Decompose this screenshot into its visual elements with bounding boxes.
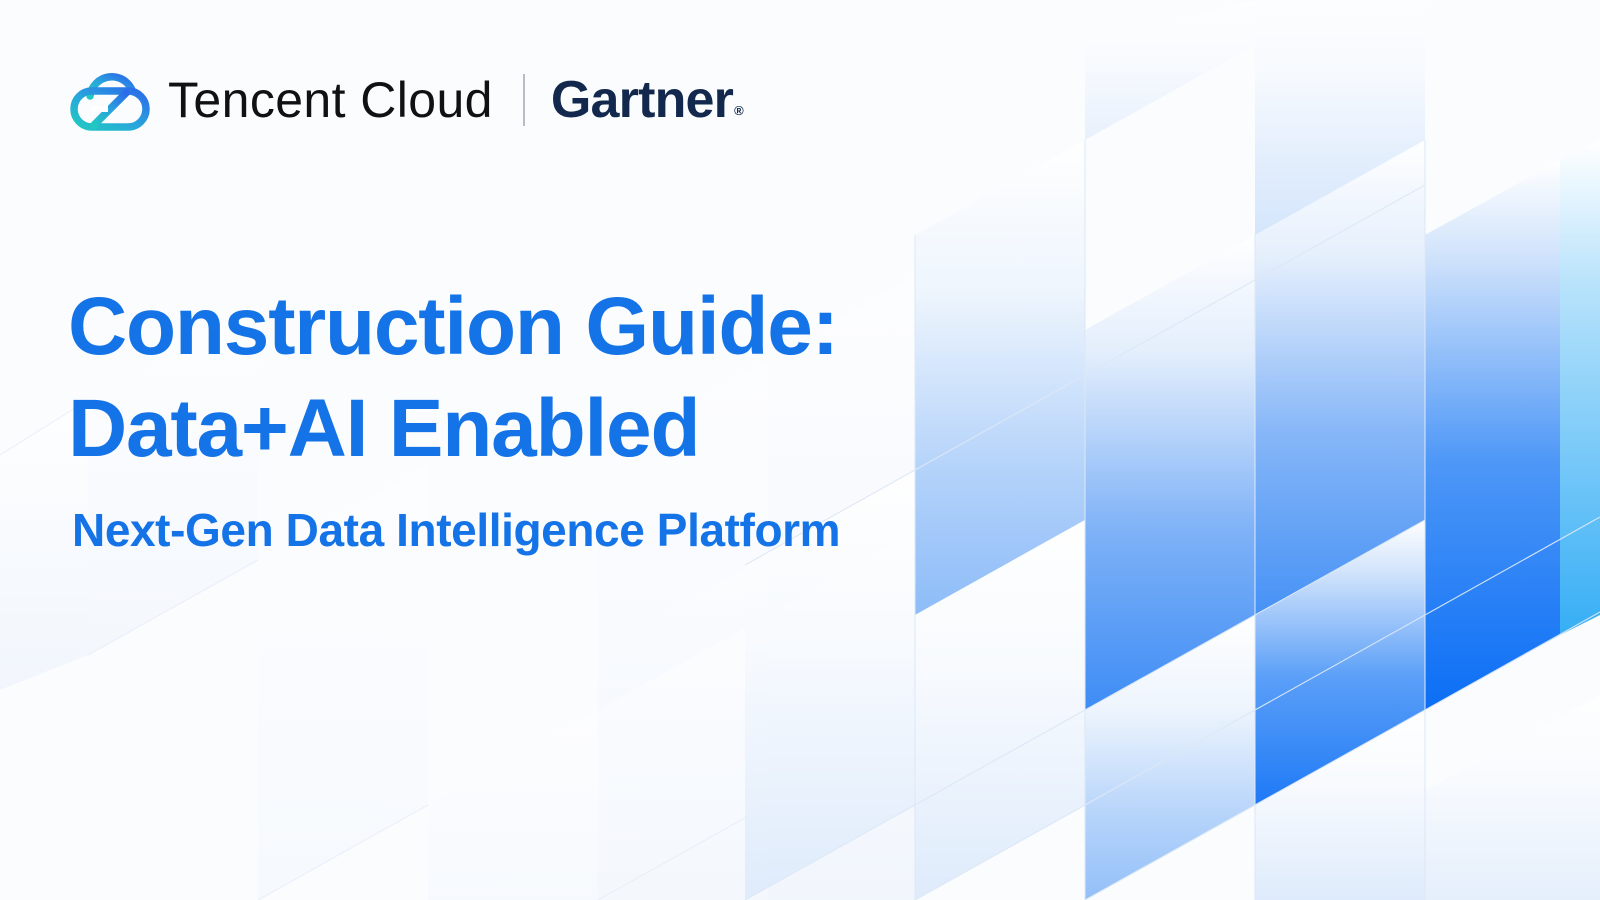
tencent-cloud-cloud-icon [68, 69, 154, 131]
logo-bar: Tencent Cloud Gartner® [68, 62, 742, 138]
gartner-wordmark-text: Gartner [551, 71, 733, 129]
headline-block: Construction Guide: Data+AI Enabled Next… [68, 276, 948, 558]
headline-line-1: Construction Guide: [68, 276, 948, 378]
subtitle: Next-Gen Data Intelligence Platform [72, 502, 948, 558]
headline-line-2: Data+AI Enabled [68, 378, 948, 480]
gartner-wordmark: Gartner® [551, 74, 742, 126]
registered-trademark-icon: ® [734, 103, 743, 118]
tencent-cloud-wordmark: Tencent Cloud [168, 75, 493, 125]
logo-divider [523, 74, 525, 126]
slide-canvas: Tencent Cloud Gartner® Construction Guid… [0, 0, 1600, 900]
